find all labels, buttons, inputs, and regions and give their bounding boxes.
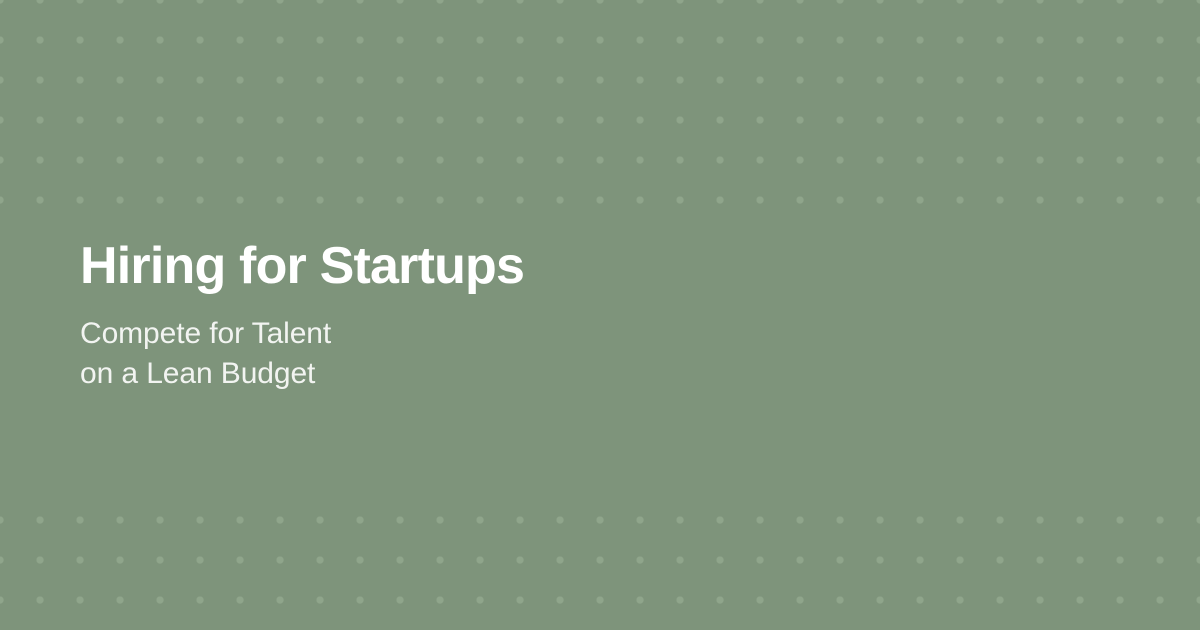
page-subtitle-line-2: on a Lean Budget	[80, 354, 1060, 394]
page-subtitle-line-1: Compete for Talent	[80, 314, 1060, 354]
share-card-canvas: Hiring for Startups Compete for Talent o…	[0, 0, 1200, 630]
page-subtitle: Compete for Talent on a Lean Budget	[80, 296, 1060, 394]
page-title: Hiring for Startups	[80, 236, 1060, 296]
text-block: Hiring for Startups Compete for Talent o…	[80, 236, 1060, 394]
